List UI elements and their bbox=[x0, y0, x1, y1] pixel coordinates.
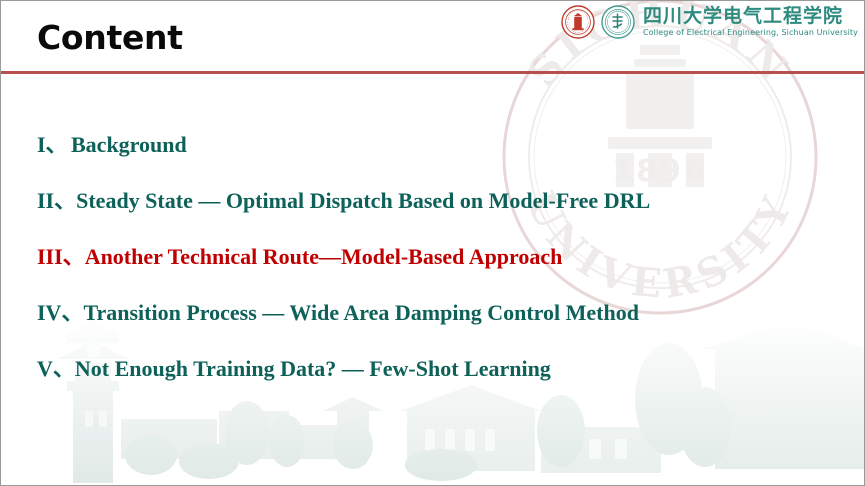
content-item-label: Another Technical Route—Model-Based Appr… bbox=[85, 244, 563, 270]
content-list-item[interactable]: II、Steady State — Optimal Dispatch Based… bbox=[1, 183, 865, 239]
college-of-electrical-engineering-logo bbox=[601, 5, 635, 39]
content-list-item[interactable]: I、Background bbox=[1, 127, 865, 183]
content-list-item[interactable]: III、Another Technical Route—Model-Based … bbox=[1, 239, 865, 295]
content-item-numeral: III、 bbox=[37, 239, 85, 271]
content-item-label: Transition Process — Wide Area Damping C… bbox=[83, 300, 639, 326]
content-list: I、BackgroundII、Steady State — Optimal Di… bbox=[1, 127, 865, 407]
sichuan-university-seal-logo bbox=[561, 5, 595, 39]
left-buildings-shape bbox=[121, 411, 353, 459]
title-divider-rule bbox=[1, 71, 865, 74]
content-list-item[interactable]: V、Not Enough Training Data? — Few-Shot L… bbox=[1, 351, 865, 407]
page-title: Content bbox=[37, 18, 183, 58]
content-item-numeral: I、 bbox=[37, 127, 71, 159]
content-item-numeral: V、 bbox=[37, 351, 75, 383]
presentation-slide: SICHUAN UNIVERSITY 1896 bbox=[0, 0, 865, 486]
content-list-item[interactable]: IV、Transition Process — Wide Area Dampin… bbox=[1, 295, 865, 351]
brand-lockup: 四川大学电气工程学院 College of Electrical Enginee… bbox=[561, 5, 858, 39]
content-item-label: Not Enough Training Data? — Few-Shot Lea… bbox=[75, 356, 551, 382]
content-item-numeral: IV、 bbox=[37, 295, 83, 327]
content-item-numeral: II、 bbox=[37, 183, 76, 215]
content-item-label: Steady State — Optimal Dispatch Based on… bbox=[76, 188, 650, 214]
brand-text-block: 四川大学电气工程学院 College of Electrical Enginee… bbox=[643, 6, 858, 38]
content-item-label: Background bbox=[71, 132, 187, 158]
brand-name-english: College of Electrical Engineering, Sichu… bbox=[643, 27, 858, 38]
brand-name-chinese: 四川大学电气工程学院 bbox=[643, 6, 858, 27]
